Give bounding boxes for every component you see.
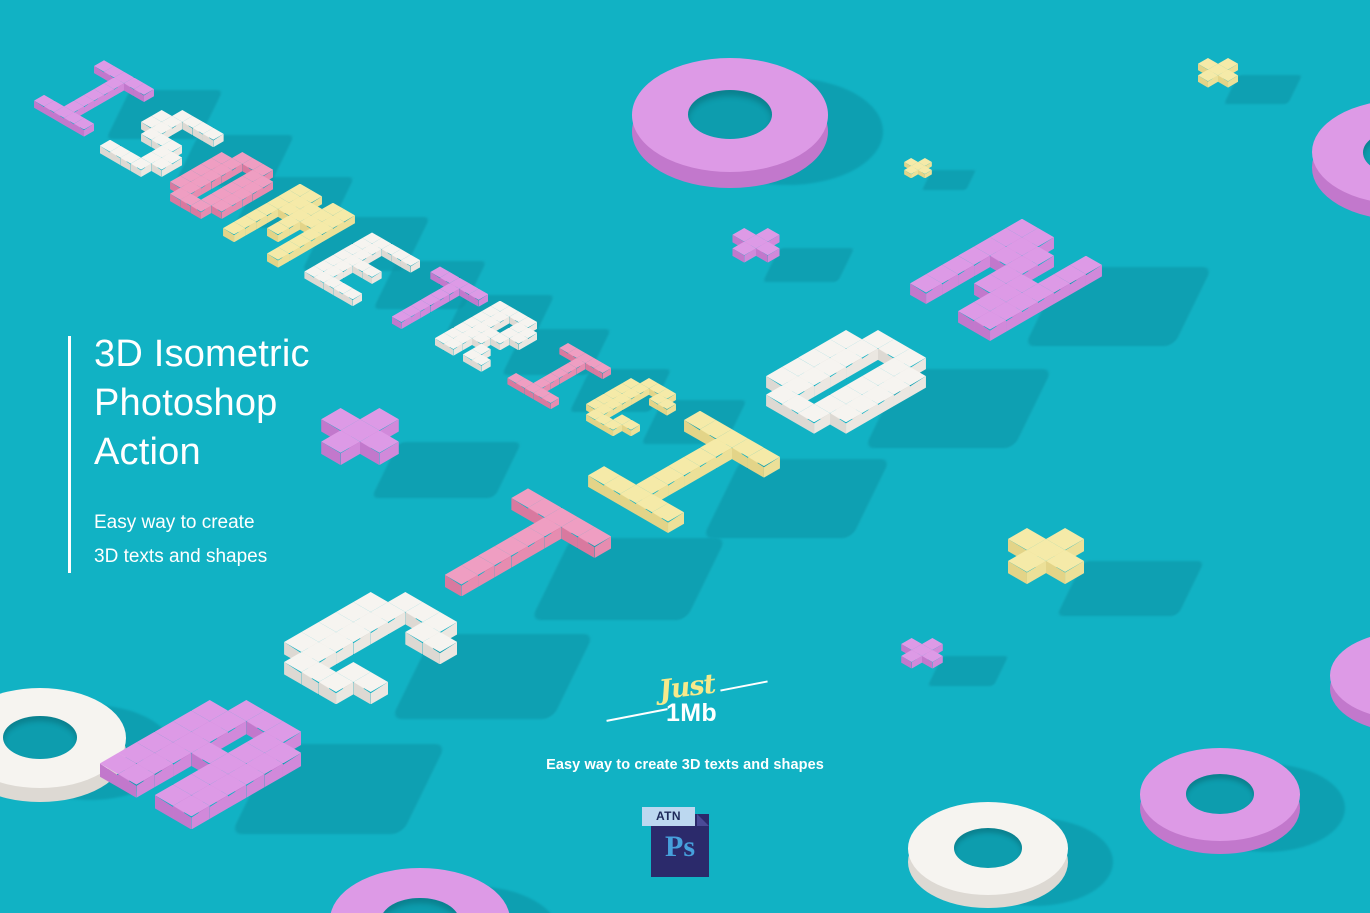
subtitle-line-2: 3D texts and shapes (94, 540, 267, 574)
iso-letter-c (388, 592, 389, 593)
iso-ring (632, 58, 828, 172)
subtitle-line-1: Easy way to create (94, 506, 267, 540)
iso-letter-a (228, 700, 229, 701)
iso-cross (918, 158, 919, 159)
iso-letter-shadow (703, 459, 890, 538)
promo-canvas: 3D Isometric Photoshop Action Easy way t… (0, 0, 1370, 913)
iso-letter-o (232, 152, 233, 153)
iso-letter-i (568, 348, 569, 349)
iso-letter-n (1022, 228, 1023, 229)
iso-cross (1046, 528, 1047, 529)
file-size-badge: Just 1Mb (604, 672, 764, 732)
iso-letter-i (104, 66, 105, 67)
iso-letter-c (640, 378, 641, 379)
page-title: 3D Isometric Photoshop Action (94, 330, 310, 477)
ps-label: Ps (651, 830, 709, 864)
iso-ring (330, 868, 510, 913)
headline-line-2: Photoshop (94, 379, 310, 428)
iso-letter-o (862, 330, 863, 331)
iso-cross (1218, 58, 1219, 59)
tagline: Easy way to create 3D texts and shapes (0, 757, 1370, 773)
iso-letter-s (172, 110, 173, 111)
vertical-rule (68, 336, 71, 573)
badge-dash-left (606, 708, 667, 722)
iso-letter-e (372, 238, 373, 239)
photoshop-action-file-icon: Ps ATN (651, 805, 713, 877)
iso-ring (908, 802, 1068, 895)
iso-letter-i (700, 420, 701, 421)
iso-letter-m (300, 190, 301, 191)
atn-tab: ATN (642, 807, 695, 826)
iso-ring (1312, 100, 1370, 204)
atn-label: ATN (642, 807, 695, 826)
iso-letter-shadow (531, 538, 726, 620)
iso-letter-t (440, 272, 441, 273)
badge-dash-right (720, 680, 767, 691)
headline-line-1: 3D Isometric (94, 330, 310, 379)
iso-ring-hole (688, 90, 772, 139)
iso-cross (756, 228, 757, 229)
iso-letter-t (528, 498, 529, 499)
iso-ring (1330, 632, 1370, 719)
subtitle: Easy way to create 3D texts and shapes (94, 506, 267, 574)
badge-size-label: 1Mb (666, 699, 717, 728)
iso-letter-r (500, 306, 501, 307)
iso-cross (360, 408, 361, 409)
iso-cross (922, 638, 923, 639)
headline-line-3: Action (94, 428, 310, 477)
